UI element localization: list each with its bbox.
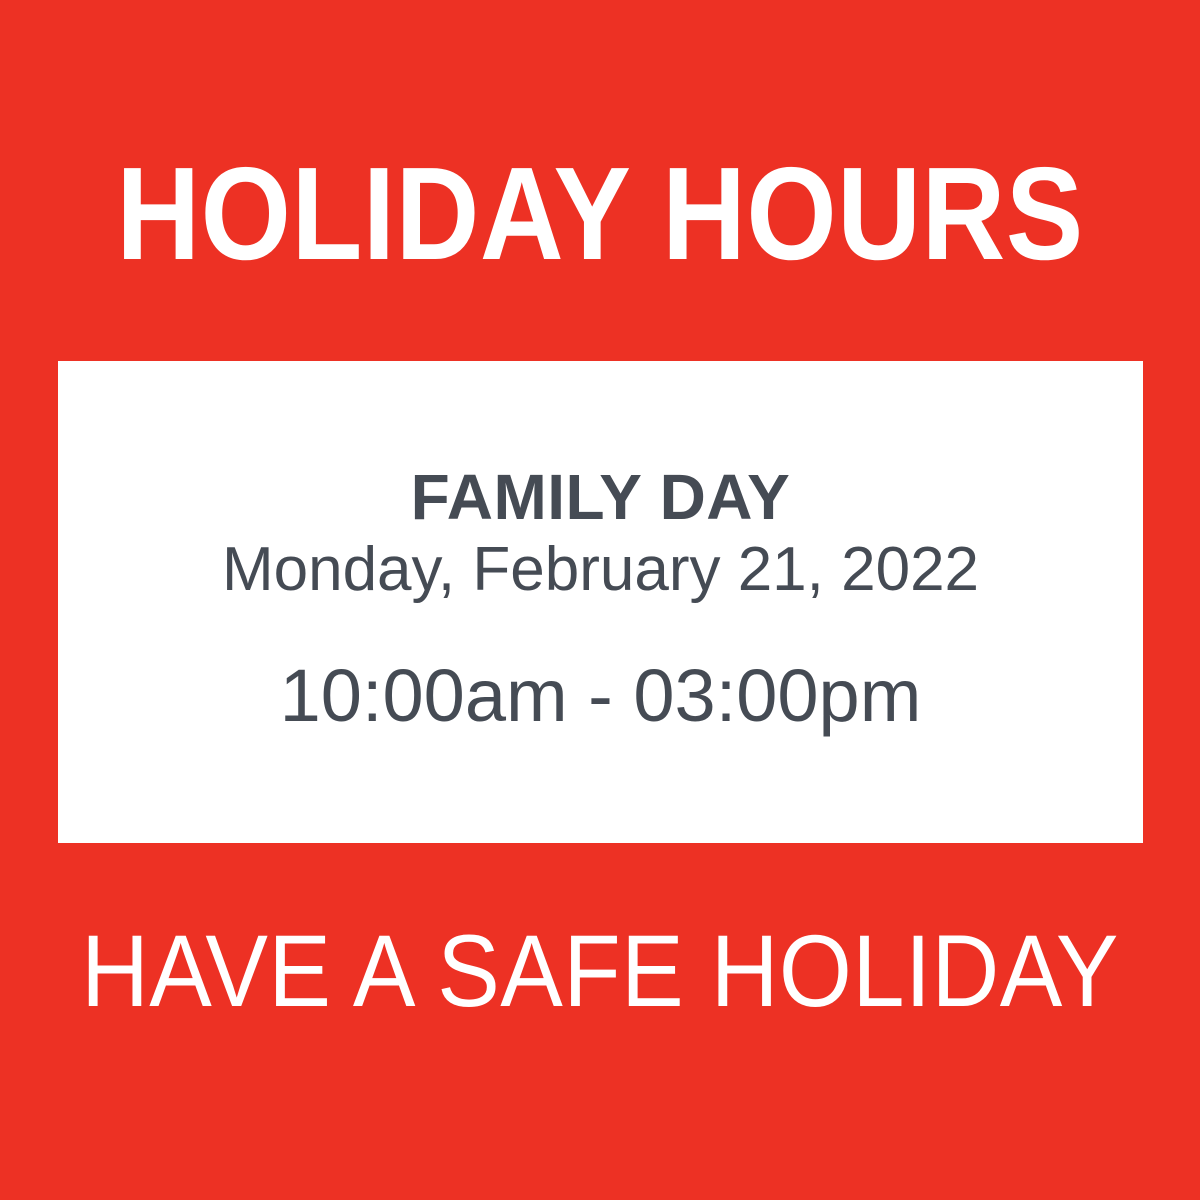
event-name: FAMILY DAY: [58, 462, 1143, 532]
footer-message: HAVE A SAFE HOLIDAY: [48, 916, 1152, 1026]
hours-card: FAMILY DAY Monday, February 21, 2022 10:…: [58, 361, 1143, 843]
holiday-hours-poster: HOLIDAY HOURS FAMILY DAY Monday, Februar…: [0, 0, 1200, 1200]
event-hours: 10:00am - 03:00pm: [58, 656, 1143, 736]
hours-card-content: FAMILY DAY Monday, February 21, 2022 10:…: [58, 462, 1143, 742]
page-title: HOLIDAY HOURS: [72, 148, 1128, 280]
event-date: Monday, February 21, 2022: [58, 534, 1143, 606]
